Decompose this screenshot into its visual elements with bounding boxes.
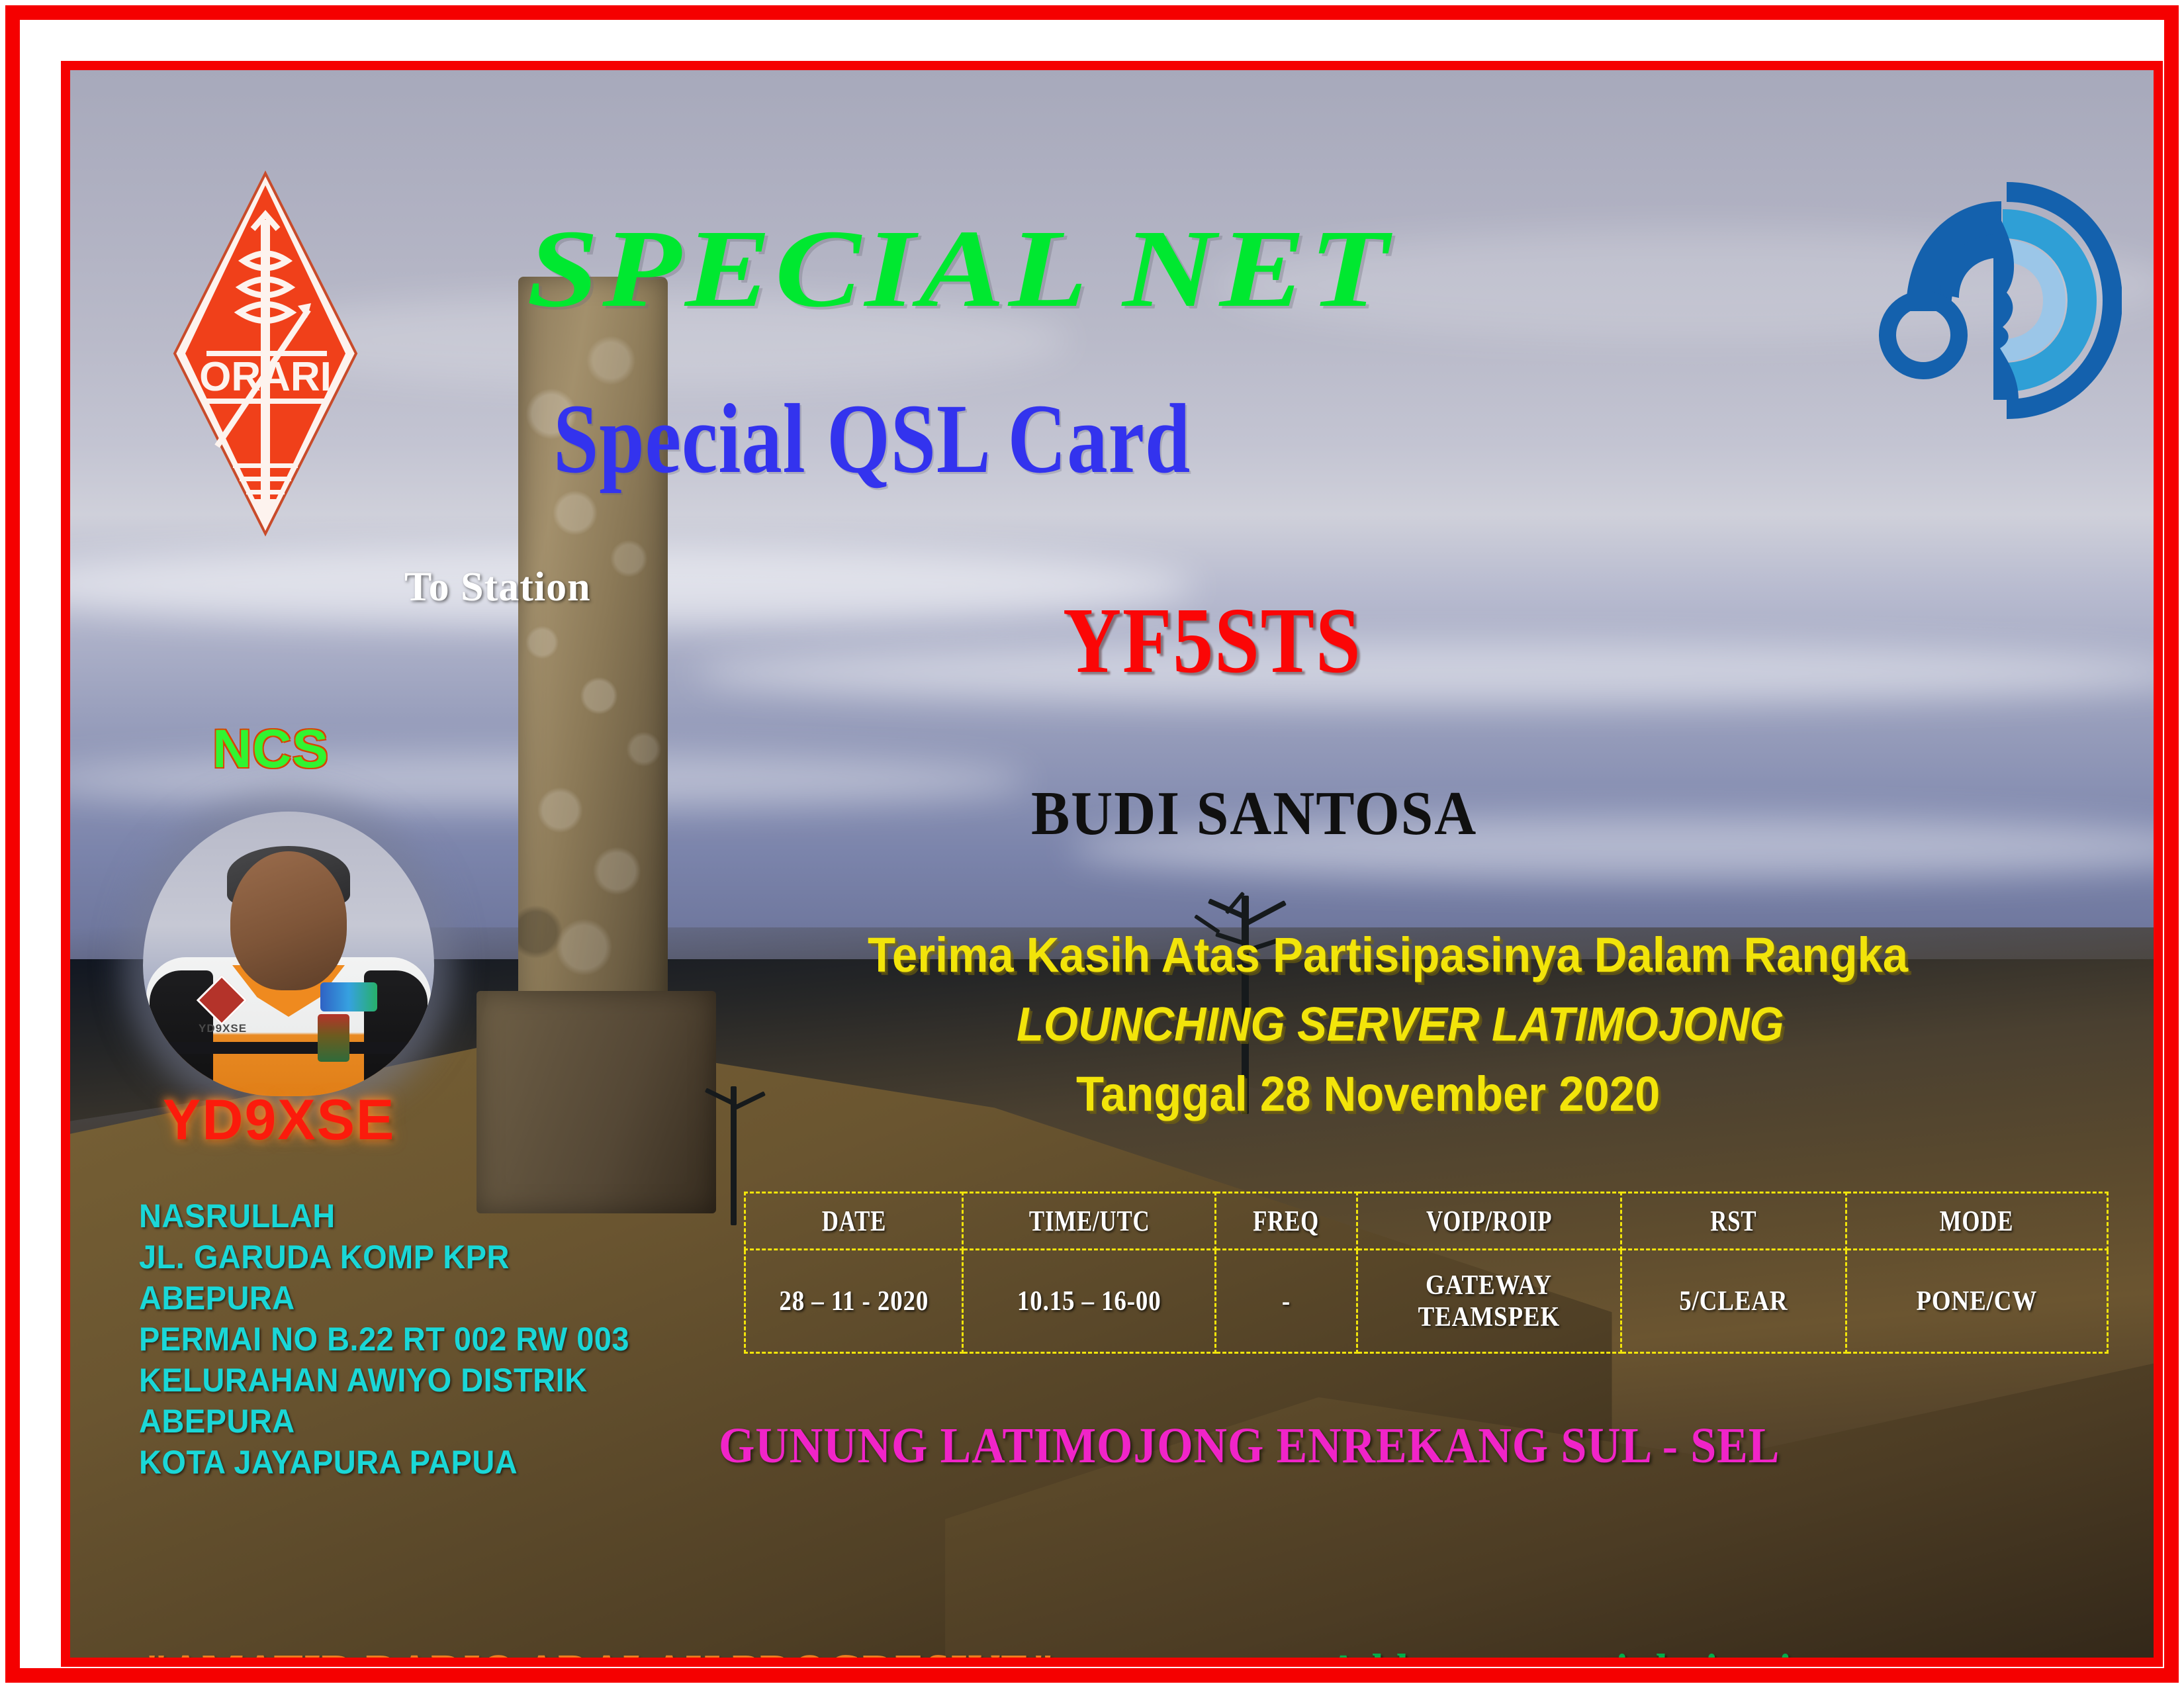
table-row: 28 – 11 - 2020 10.15 – 16-00 - GATEWAY T… bbox=[745, 1250, 2108, 1353]
cairn-base bbox=[477, 991, 716, 1213]
sender-address-block: NASRULLAH JL. GARUDA KOMP KPR ABEPURA PE… bbox=[139, 1196, 660, 1483]
column-header-time: TIME/UTC bbox=[976, 1193, 1203, 1250]
cell-mode: PONE/CW bbox=[1846, 1250, 2107, 1353]
cell-date: 28 – 11 - 2020 bbox=[745, 1250, 963, 1353]
column-header-mode: MODE bbox=[1859, 1193, 2095, 1250]
page-subtitle: Special QSL Card bbox=[553, 389, 1191, 489]
cell-rst: 5/CLEAR bbox=[1621, 1250, 1846, 1353]
column-header-rst: RST bbox=[1633, 1193, 1835, 1250]
ncs-operator-photo: YD9XSE bbox=[143, 812, 434, 1096]
address-line: ABEPURA bbox=[139, 1278, 629, 1319]
recipient-operator-name: BUDI SANTOSA bbox=[1031, 782, 1477, 845]
orari-logo-text: ORARI bbox=[199, 354, 332, 400]
cell-freq: - bbox=[1215, 1250, 1357, 1353]
page-title: SPECIAL NET bbox=[527, 213, 1392, 324]
club-motto: "AMATIR RADIO ADALAH PROGRESIVE" bbox=[144, 1647, 1056, 1667]
address-line: NASRULLAH bbox=[139, 1196, 629, 1237]
column-header-date: DATE bbox=[756, 1193, 952, 1250]
inner-red-border: ORARI SPE bbox=[61, 61, 2163, 1667]
headset-face-radio-logo bbox=[1877, 181, 2122, 420]
table-header-row: DATE TIME/UTC FREQ VOIP/ROIP RST MODE bbox=[745, 1193, 2108, 1250]
shirt-callsign-tag: YD9XSE bbox=[199, 1022, 247, 1035]
web-address: Address : amatir.latimojong.com bbox=[1328, 1647, 1951, 1667]
address-line: ABEPURA bbox=[139, 1401, 629, 1442]
outer-red-border: ORARI SPE bbox=[5, 5, 2179, 1683]
address-line: KELURAHAN AWIYO DISTRIK bbox=[139, 1360, 629, 1401]
cloud-streak bbox=[695, 641, 2154, 705]
ncs-label: NCS bbox=[212, 722, 329, 776]
event-name-line: LOUNCHING SERVER LATIMOJONG bbox=[1017, 1001, 1784, 1049]
column-header-freq: FREQ bbox=[1222, 1193, 1349, 1250]
event-date-line: Tanggal 28 November 2020 bbox=[1076, 1070, 1660, 1119]
orari-diamond-logo: ORARI bbox=[169, 168, 361, 539]
recipient-callsign: YF5STS bbox=[1063, 593, 1361, 687]
address-line: KOTA JAYAPURA PAPUA bbox=[139, 1442, 629, 1483]
address-line: JL. GARUDA KOMP KPR bbox=[139, 1237, 629, 1278]
to-station-label: To Station bbox=[404, 567, 591, 608]
qsl-card: ORARI SPE bbox=[0, 0, 2184, 1688]
cell-voip-roip: GATEWAY TEAMSPEK bbox=[1357, 1250, 1621, 1353]
address-line: PERMAI NO B.22 RT 002 RW 003 bbox=[139, 1319, 629, 1360]
thanks-line: Terima Kasih Atas Partisipasinya Dalam R… bbox=[868, 931, 1908, 980]
column-header-voip-roip: VOIP/ROIP bbox=[1370, 1193, 1608, 1250]
cell-time: 10.15 – 16-00 bbox=[963, 1250, 1216, 1353]
qso-log-table: DATE TIME/UTC FREQ VOIP/ROIP RST MODE 28… bbox=[744, 1192, 2109, 1354]
mountain-location-caption: GUNUNG LATIMOJONG ENREKANG SUL - SEL bbox=[719, 1421, 1780, 1471]
ncs-callsign: YD9XSE bbox=[163, 1092, 395, 1149]
